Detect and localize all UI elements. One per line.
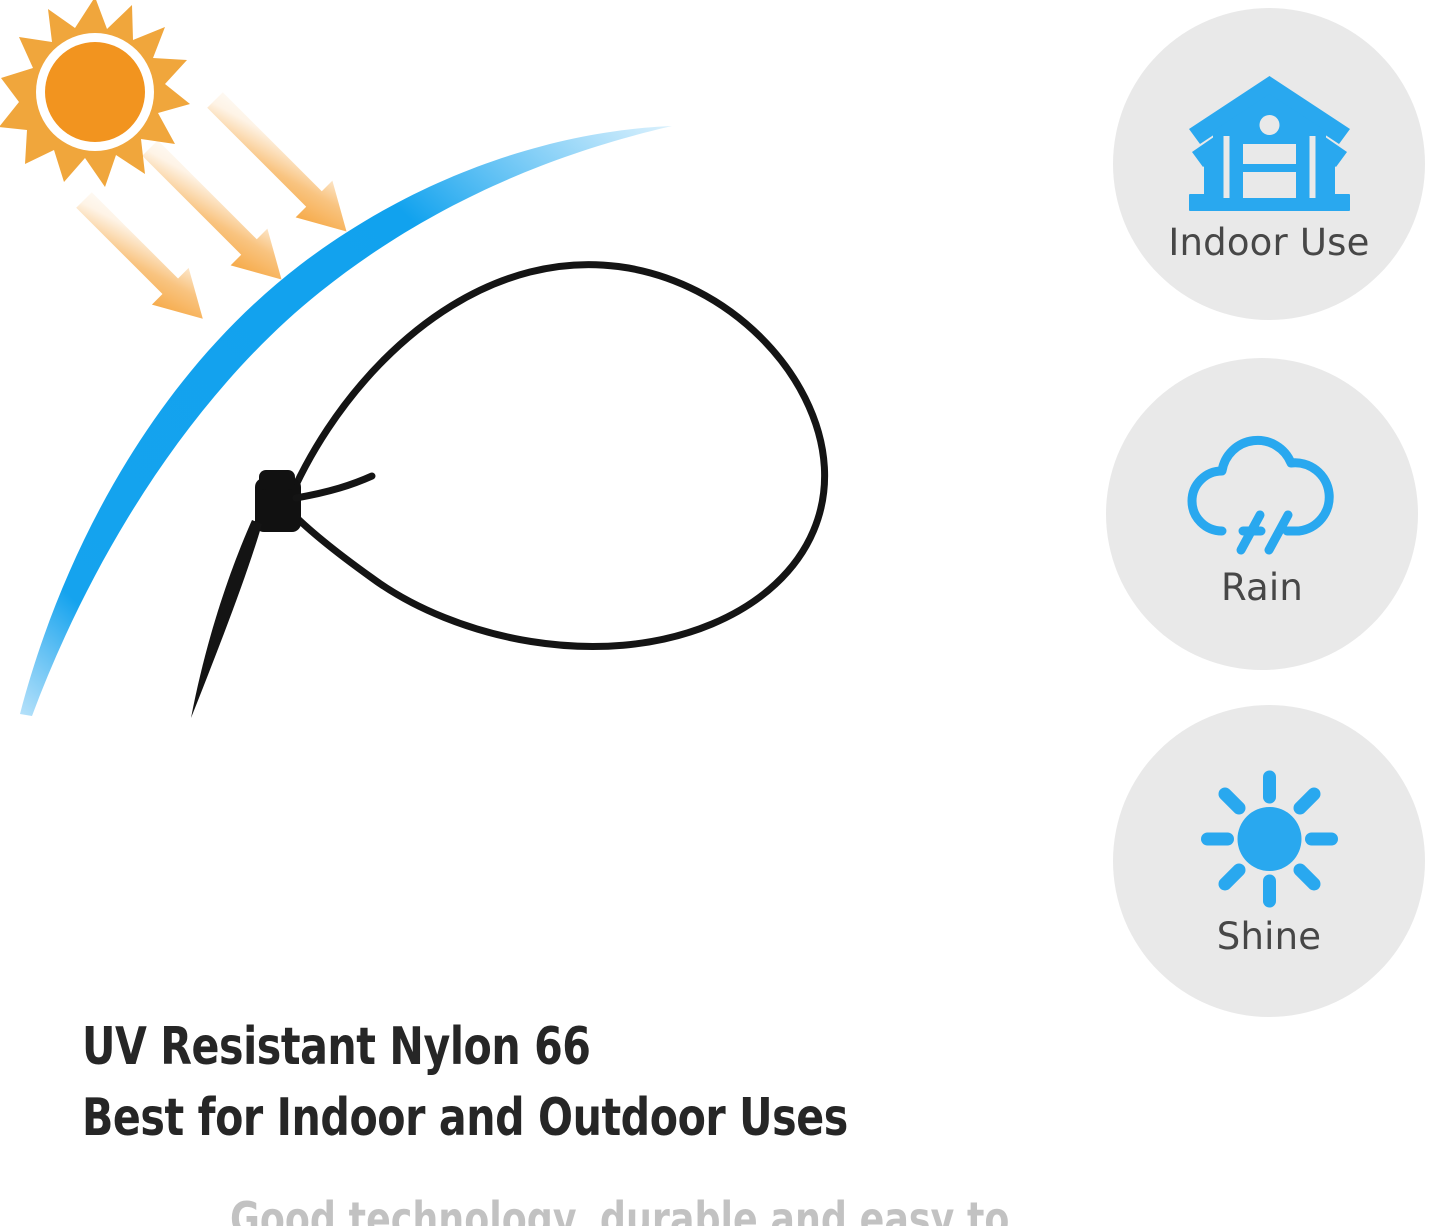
uv-shield-arc bbox=[20, 126, 672, 716]
headline-line-1: UV Resistant Nylon 66 bbox=[82, 1012, 962, 1083]
sun-disc bbox=[45, 42, 145, 142]
house-icon bbox=[1182, 68, 1357, 218]
feature-label: Indoor Use bbox=[1168, 224, 1369, 261]
rain-cloud-icon bbox=[1175, 423, 1350, 563]
feature-badge-rain[interactable]: Rain bbox=[1106, 358, 1418, 670]
product-illustration bbox=[0, 0, 1060, 1000]
headline: UV Resistant Nylon 66 Best for Indoor an… bbox=[82, 1012, 962, 1153]
cable-tie-tail bbox=[191, 520, 262, 718]
sun-shine-icon bbox=[1182, 767, 1357, 912]
headline-line-2: Best for Indoor and Outdoor Uses bbox=[82, 1083, 962, 1154]
infographic-canvas: Indoor Use Rain Shin bbox=[0, 0, 1432, 1211]
feature-badge-shine[interactable]: Shine bbox=[1113, 705, 1425, 1017]
cable-tie-strap bbox=[296, 476, 372, 498]
cable-tie-illustration bbox=[191, 265, 825, 718]
cable-tie-loop bbox=[287, 265, 825, 647]
cable-tie-head bbox=[255, 470, 301, 532]
feature-label: Shine bbox=[1217, 918, 1321, 955]
feature-badge-indoor-use[interactable]: Indoor Use bbox=[1113, 8, 1425, 320]
tagline-clipped: Good technology, durable and easy to use bbox=[230, 1196, 1022, 1226]
feature-label: Rain bbox=[1221, 569, 1303, 606]
